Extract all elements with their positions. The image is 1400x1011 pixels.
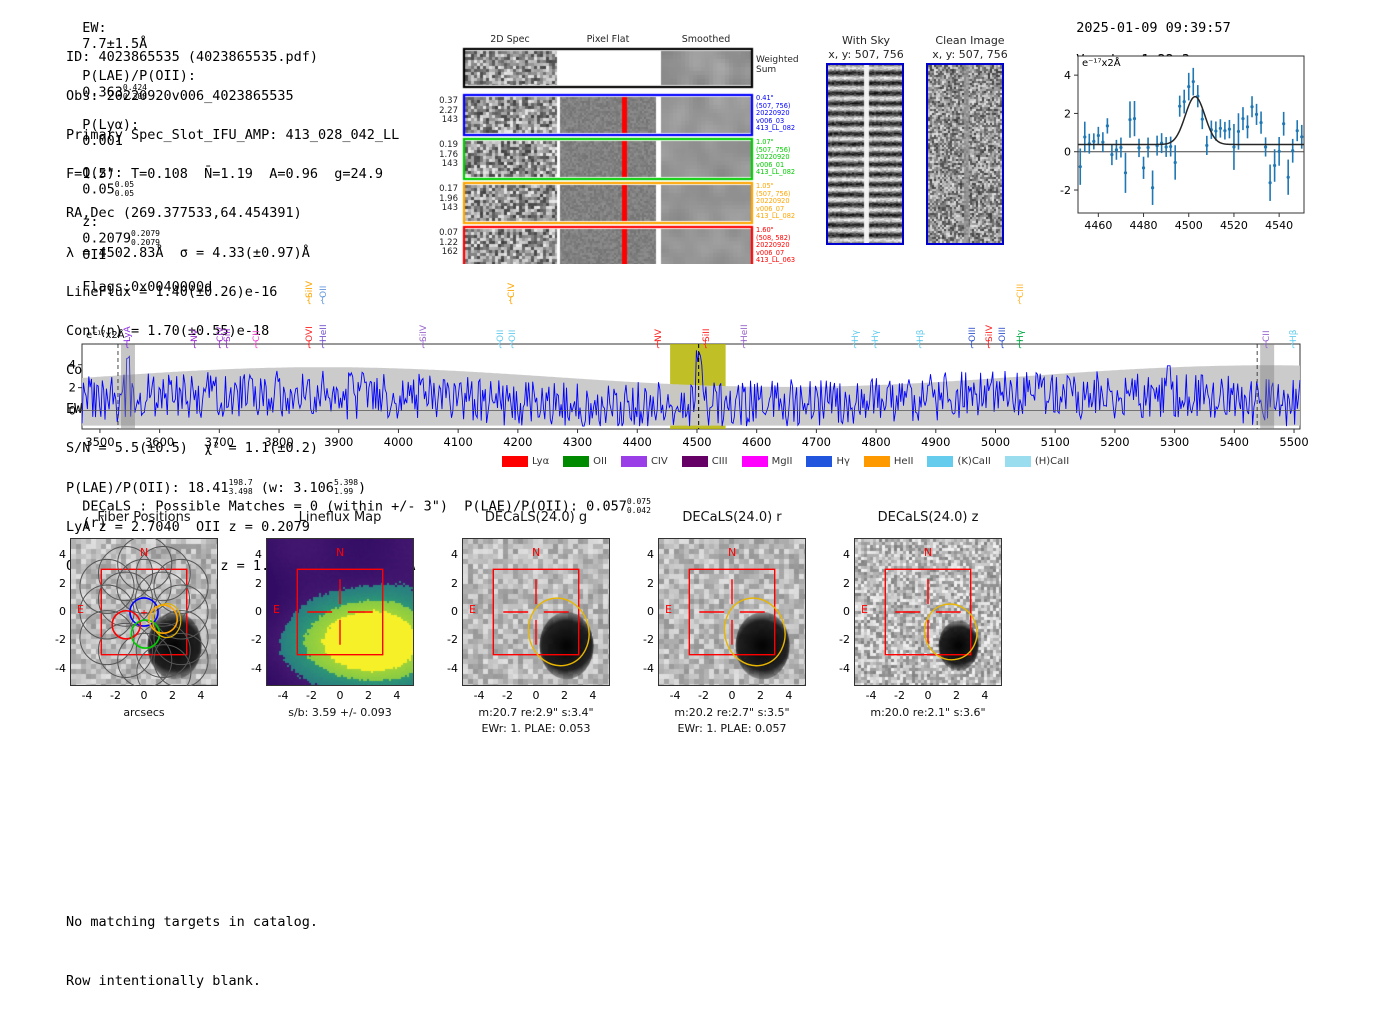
legend-label: (H)CaII xyxy=(1035,456,1069,467)
spectrum-line-label: LyA xyxy=(123,296,133,342)
spectrum-line-label: CIV xyxy=(507,252,517,298)
montage-row-stats: 0.171.96143 xyxy=(426,185,458,214)
info-obs: Obs: 20220920v006_4023865535 xyxy=(66,87,416,107)
montage-weighted-sum-label: Weighted Sum xyxy=(756,55,816,75)
decals-ytick: -4 xyxy=(46,662,66,675)
spectrum-line-label: Hγ xyxy=(871,296,881,342)
info-radec: RA,Dec (269.377533,64.454391) xyxy=(66,204,416,224)
spectrum-line-label: SiII xyxy=(702,296,712,342)
decals-panel-xlabel: arcsecs xyxy=(70,706,218,719)
decals-xtick: -2 xyxy=(300,689,324,702)
info-slot: Primary Spec_Slot_IFU_AMP: 413_028_042_L… xyxy=(66,126,416,146)
spec-montage: 2D Spec Pixel Flat Smoothed Weighted Sum… xyxy=(462,34,754,264)
zoom-chart-xtick: 4500 xyxy=(1175,219,1203,232)
decals-ytick: -4 xyxy=(830,662,850,675)
montage-row-meta-line: 413_LL_082 xyxy=(756,213,826,221)
spectrum-line-bracket: { xyxy=(420,340,426,350)
cutout-clean-image xyxy=(926,63,1004,245)
spectrum-xtick: 5200 xyxy=(1100,435,1129,449)
montage-row-meta: 1.07"(507, 756)20220920v006_01413_LL_082 xyxy=(756,139,826,177)
montage-col-title-2dspec: 2D Spec xyxy=(462,34,558,45)
spectrum-xtick: 3700 xyxy=(205,435,234,449)
montage-col-title-smoothed: Smoothed xyxy=(658,34,754,45)
spectrum-xtick: 4600 xyxy=(742,435,771,449)
zoom-chart-flux-annotation: e⁻¹⁷x2Å xyxy=(1082,58,1121,69)
compass-east-label: E xyxy=(77,603,84,616)
spectrum-xtick: 5500 xyxy=(1279,435,1308,449)
decals-ytick: -4 xyxy=(634,662,654,675)
info-id: ID: 4023865535 (4023865535.pdf) xyxy=(66,48,416,68)
decals-panel-sub1: m:20.0 re:2.1" s:3.6" xyxy=(828,706,1028,719)
zoom-chart-xtick: 4540 xyxy=(1265,219,1293,232)
image-cutouts: With Sky x, y: 507, 756 Clean Image x, y… xyxy=(820,34,1020,264)
compass-east-label: E xyxy=(861,603,868,616)
decals-xtick: -4 xyxy=(467,689,491,702)
spectrum-line-label: SiIV xyxy=(419,296,429,342)
decals-xtick: 4 xyxy=(189,689,213,702)
decals-xtick: 2 xyxy=(944,689,968,702)
spectrum-line-bracket: { xyxy=(1290,340,1296,350)
decals-ytick: 0 xyxy=(830,605,850,618)
zoom-chart-ytick: 2 xyxy=(1064,107,1071,120)
legend-swatch xyxy=(563,456,589,467)
montage-image xyxy=(462,47,754,264)
spectrum-xtick: 4300 xyxy=(563,435,592,449)
decals-xtick: -2 xyxy=(692,689,716,702)
decals-ytick: 4 xyxy=(634,548,654,561)
spectrum-ytick: 2 xyxy=(69,381,76,395)
spectrum-line-label: OII xyxy=(508,296,518,342)
header-timestamp: 2025-01-09 09:39:57 xyxy=(1076,20,1230,36)
decals-ytick: 2 xyxy=(438,577,458,590)
decals-ytick: 0 xyxy=(438,605,458,618)
spectrum-legend: LyαOIICIVCIIIMgIIHγHeII(K)CaII(H)CaII xyxy=(502,451,1083,470)
decals-ytick: -2 xyxy=(46,633,66,646)
montage-row-stat: 162 xyxy=(426,248,458,258)
spectrum-xtick: 3500 xyxy=(85,435,114,449)
spectrum-line-label: OIII xyxy=(968,296,978,342)
spectrum-xtick: 4700 xyxy=(802,435,831,449)
spectrum-xtick: 4500 xyxy=(682,435,711,449)
spectrum-line-bracket: { xyxy=(1017,296,1023,306)
decals-xtick: 0 xyxy=(328,689,352,702)
spectrum-line-label: CII xyxy=(252,296,262,342)
spectrum-line-bracket: { xyxy=(999,340,1005,350)
decals-panel-image xyxy=(658,538,806,686)
montage-row-meta: 0.41"(507, 756)20220920v006_03413_LL_082 xyxy=(756,95,826,133)
decals-panel-title: DECaLS(24.0) g xyxy=(434,510,638,525)
full-spectrum-panel: 3500360037003800390040004100420043004400… xyxy=(60,276,1320,471)
footer-note: No matching targets in catalog. Row inte… xyxy=(66,874,318,1011)
decals-panel-sub1: m:20.2 re:2.7" s:3.5" xyxy=(632,706,832,719)
montage-row-meta: 1.60"(508, 582)20220920v006_07413_LL_063 xyxy=(756,227,826,265)
spectrum-xtick: 4400 xyxy=(623,435,652,449)
legend-swatch xyxy=(682,456,708,467)
decals-ytick: -4 xyxy=(242,662,262,675)
spectrum-line-label: CIII xyxy=(1016,252,1026,298)
legend-label: HeII xyxy=(894,456,914,467)
spectrum-line-label: NV xyxy=(654,296,664,342)
spectrum-ytick: 0 xyxy=(69,404,76,418)
legend-label: OII xyxy=(593,456,607,467)
spectrum-line-bracket: { xyxy=(703,340,709,350)
decals-panel-sub2: EWr: 1. PLAE: 0.057 xyxy=(632,722,832,735)
compass-east-label: E xyxy=(469,603,476,616)
spectrum-line-label: SiIV xyxy=(985,296,995,342)
decals-ytick: 2 xyxy=(46,577,66,590)
decals-ytick: 2 xyxy=(830,577,850,590)
spectrum-line-label: HeII xyxy=(740,296,750,342)
montage-row-stats: 0.191.76143 xyxy=(426,141,458,170)
decals-xtick: 2 xyxy=(748,689,772,702)
decals-xtick: 2 xyxy=(356,689,380,702)
montage-col-title-pixelflat: Pixel Flat xyxy=(558,34,658,45)
legend-label: MgII xyxy=(772,456,793,467)
decals-panel-image xyxy=(854,538,1002,686)
spectrum-xtick: 4200 xyxy=(503,435,532,449)
decals-xtick: 4 xyxy=(581,689,605,702)
spectrum-line-bracket: { xyxy=(497,340,503,350)
legend-label: CIII xyxy=(712,456,728,467)
spectrum-line-bracket: { xyxy=(320,296,326,306)
spectrum-xtick: 3900 xyxy=(324,435,353,449)
decals-ytick: -2 xyxy=(634,633,654,646)
spectrum-line-bracket: { xyxy=(1017,340,1023,350)
zoom-chart-ytick: -2 xyxy=(1060,184,1071,197)
spectrum-line-bracket: { xyxy=(253,340,259,350)
compass-north-label: N xyxy=(532,546,540,559)
cutout-subtitle-with-sky: x, y: 507, 756 xyxy=(820,48,912,61)
decals-ytick: 0 xyxy=(46,605,66,618)
decals-xtick: -4 xyxy=(859,689,883,702)
spectrum-line-label: OIII xyxy=(998,296,1008,342)
cutout-subtitle-clean: x, y: 507, 756 xyxy=(920,48,1020,61)
spectrum-line-label: Hβ xyxy=(1289,296,1299,342)
footer-line-1: No matching targets in catalog. xyxy=(66,913,318,933)
cutout-with-sky xyxy=(826,63,904,245)
decals-panel-sub2: EWr: 1. PLAE: 0.053 xyxy=(436,722,636,735)
decals-xtick: 0 xyxy=(132,689,156,702)
spectrum-xtick: 4900 xyxy=(921,435,950,449)
legend-swatch xyxy=(806,456,832,467)
spectrum-ytick: 4 xyxy=(69,358,76,372)
compass-east-label: E xyxy=(273,603,280,616)
spectrum-line-bracket: { xyxy=(320,340,326,350)
spectrum-xtick: 5300 xyxy=(1160,435,1189,449)
decals-xtick: -2 xyxy=(888,689,912,702)
decals-panel-image xyxy=(70,538,218,686)
spectrum-xtick: 4800 xyxy=(861,435,890,449)
montage-row-meta-line: 413_LL_082 xyxy=(756,169,826,177)
decals-xtick: 2 xyxy=(552,689,576,702)
montage-row-stat: 143 xyxy=(426,160,458,170)
spectrum-line-bracket: { xyxy=(917,340,923,350)
decals-panel-row: Fiber Positions+NE-4-2024420-2-4arcsecsL… xyxy=(60,508,1060,733)
spectrum-line-label: OII xyxy=(319,252,329,298)
spectrum-xtick: 5400 xyxy=(1220,435,1249,449)
spectrum-line-bracket: { xyxy=(852,340,858,350)
cutout-title-with-sky: With Sky xyxy=(820,34,912,47)
spectrum-line-bracket: { xyxy=(124,340,130,350)
decals-xtick: -4 xyxy=(663,689,687,702)
spectrum-line-bracket: { xyxy=(969,340,975,350)
spectrum-svg: 3500360037003800390040004100420043004400… xyxy=(60,276,1320,471)
decals-xtick: 0 xyxy=(524,689,548,702)
spectrum-flux-annotation: e⁻¹⁷x2Å xyxy=(86,330,125,341)
spectrum-xtick: 5000 xyxy=(981,435,1010,449)
decals-ytick: -2 xyxy=(242,633,262,646)
decals-xtick: 2 xyxy=(160,689,184,702)
montage-row-meta-line: 413_LL_082 xyxy=(756,125,826,133)
decals-panel-title: Lineflux Map xyxy=(238,510,442,525)
decals-ytick: -2 xyxy=(438,633,458,646)
decals-ytick: -4 xyxy=(438,662,458,675)
decals-panel-title: DECaLS(24.0) r xyxy=(630,510,834,525)
spectrum-line-label: OII xyxy=(496,296,506,342)
montage-row-stat: 143 xyxy=(426,204,458,214)
zoom-chart-xtick: 4520 xyxy=(1220,219,1248,232)
spectrum-line-bracket: { xyxy=(986,340,992,350)
decals-ytick: 4 xyxy=(830,548,850,561)
legend-label: Hγ xyxy=(836,456,849,467)
spectrum-line-bracket: { xyxy=(306,296,312,306)
decals-panel-image xyxy=(462,538,610,686)
spectrum-xtick: 5100 xyxy=(1041,435,1070,449)
compass-north-label: N xyxy=(728,546,736,559)
decals-xtick: 4 xyxy=(973,689,997,702)
decals-ytick: 4 xyxy=(438,548,458,561)
decals-ytick: 4 xyxy=(242,548,262,561)
emission-line-zoom-chart: 44604480450045204540-2024e⁻¹⁷x2Å xyxy=(1040,48,1310,243)
spectrum-line-bracket: { xyxy=(217,340,223,350)
footer-line-2: Row intentionally blank. xyxy=(66,972,318,992)
spectrum-line-bracket: { xyxy=(741,340,747,350)
decals-ytick: 2 xyxy=(634,577,654,590)
decals-panel-title: DECaLS(24.0) z xyxy=(826,510,1030,525)
zoom-chart-ytick: 0 xyxy=(1064,146,1071,159)
montage-row-meta: 1.05"(507, 756)20220920v006_07413_LL_082 xyxy=(756,183,826,221)
spectrum-line-bracket: { xyxy=(872,340,878,350)
decals-xtick: 4 xyxy=(385,689,409,702)
decals-ytick: 0 xyxy=(242,605,262,618)
decals-panel-sub1: s/b: 3.59 +/- 0.093 xyxy=(240,706,440,719)
spectrum-xtick: 4000 xyxy=(384,435,413,449)
decals-panel-title: Fiber Positions xyxy=(42,510,246,525)
decals-xtick: -2 xyxy=(496,689,520,702)
legend-swatch xyxy=(502,456,528,467)
decals-xtick: 0 xyxy=(916,689,940,702)
legend-swatch xyxy=(742,456,768,467)
spectrum-line-bracket: { xyxy=(509,340,515,350)
spectrum-line-bracket: { xyxy=(306,340,312,350)
compass-north-label: N xyxy=(336,546,344,559)
zoom-chart-ytick: 4 xyxy=(1064,69,1071,82)
montage-row-stats: 0.372.27143 xyxy=(426,97,458,126)
spectrum-line-label: Hβ xyxy=(916,296,926,342)
decals-xtick: -4 xyxy=(271,689,295,702)
montage-row-meta-line: 413_LL_063 xyxy=(756,257,826,265)
compass-east-label: E xyxy=(665,603,672,616)
montage-row-stat: 143 xyxy=(426,116,458,126)
zoom-chart-xtick: 4460 xyxy=(1084,219,1112,232)
spectrum-xtick: 4100 xyxy=(444,435,473,449)
decals-xtick: -4 xyxy=(75,689,99,702)
spectrum-line-bracket: { xyxy=(655,340,661,350)
compass-north-label: N xyxy=(924,546,932,559)
decals-panel-image xyxy=(266,538,414,686)
legend-label: (K)CaII xyxy=(957,456,990,467)
spectrum-line-label: SiIV xyxy=(305,252,315,298)
spectrum-line-bracket: { xyxy=(224,340,230,350)
spectrum-line-bracket: { xyxy=(191,340,197,350)
decals-xtick: -2 xyxy=(104,689,128,702)
legend-label: CIV xyxy=(651,456,668,467)
decals-ytick: 0 xyxy=(634,605,654,618)
cutout-title-clean: Clean Image xyxy=(920,34,1020,47)
decals-ytick: -2 xyxy=(830,633,850,646)
spectrum-line-label: Hγ xyxy=(851,296,861,342)
decals-ytick: 2 xyxy=(242,577,262,590)
info-lambda: λ = 4502.83Å σ = 4.33(±0.97)Å xyxy=(66,244,416,264)
spectrum-line-label: NV xyxy=(190,296,200,342)
zoom-chart-xtick: 4480 xyxy=(1130,219,1158,232)
decals-ytick: 4 xyxy=(46,548,66,561)
legend-swatch xyxy=(621,456,647,467)
montage-row-stats: 0.071.22162 xyxy=(426,229,458,258)
decals-xtick: 4 xyxy=(777,689,801,702)
spectrum-line-bracket: { xyxy=(1263,340,1269,350)
decals-panel-sub1: m:20.7 re:2.9" s:3.4" xyxy=(436,706,636,719)
legend-swatch xyxy=(1005,456,1031,467)
spectrum-xtick: 3600 xyxy=(145,435,174,449)
spectrum-xtick: 3800 xyxy=(264,435,293,449)
legend-label: Lyα xyxy=(532,456,549,467)
compass-north-label: N xyxy=(140,546,148,559)
legend-swatch xyxy=(927,456,953,467)
decals-xtick: 0 xyxy=(720,689,744,702)
spectrum-line-label: CII xyxy=(1262,296,1272,342)
legend-swatch xyxy=(864,456,890,467)
zoom-chart-svg: 44604480450045204540-2024 xyxy=(1040,48,1310,243)
spectrum-line-label: SiII xyxy=(223,296,233,342)
info-seeing: F=1.5" T=0.108 N̄=1.19 A=0.96 g=24.9 xyxy=(66,165,416,185)
